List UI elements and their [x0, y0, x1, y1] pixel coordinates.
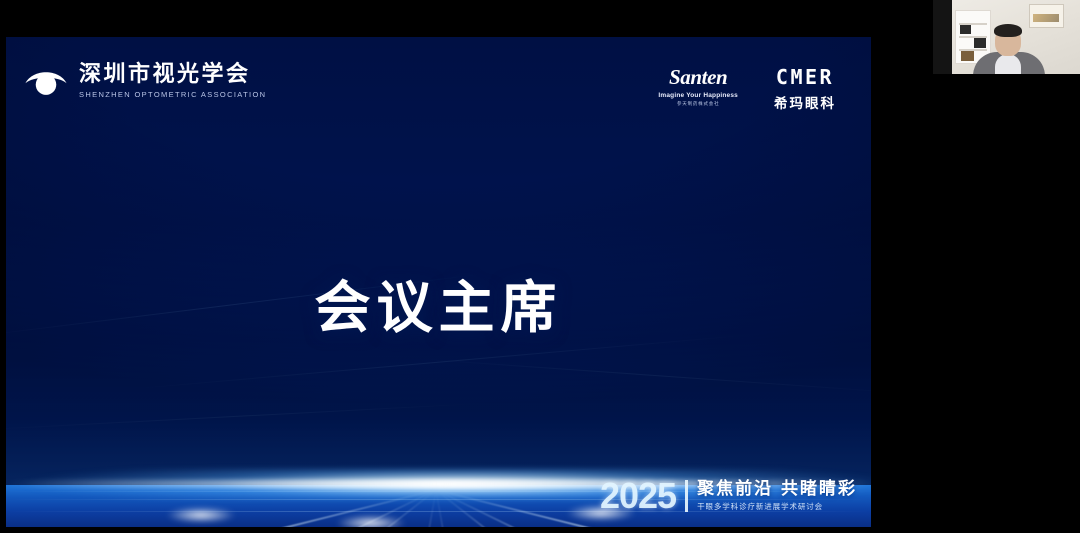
ground-glow	[166, 507, 236, 523]
sponsor-santen: Santen Imagine Your Happiness 参天制药株式会社	[658, 65, 738, 107]
eye-icon	[24, 63, 68, 99]
sponsor-cmer: CMER 希玛眼科	[774, 65, 836, 112]
video-person-hair	[994, 24, 1022, 37]
sponsor-logos: Santen Imagine Your Happiness 参天制药株式会社 C…	[658, 65, 836, 112]
light-streak	[6, 403, 485, 430]
video-wall-picture	[1029, 4, 1064, 28]
association-name-en: SHENZHEN OPTOMETRIC ASSOCIATION	[79, 91, 266, 99]
santen-wordmark: Santen	[658, 65, 738, 90]
santen-tagline: Imagine Your Happiness	[658, 92, 738, 99]
conference-slogan: 聚焦前沿 共睹睛彩	[697, 480, 857, 500]
conference-year: 2025	[600, 475, 676, 517]
lockup-divider	[685, 480, 688, 512]
conference-lockup: 2025 聚焦前沿 共睹睛彩 干眼多学科诊疗新进展学术研讨会	[600, 475, 857, 517]
presentation-slide[interactable]: 深圳市视光学会 SHENZHEN OPTOMETRIC ASSOCIATION …	[6, 37, 871, 527]
conference-subtitle: 干眼多学科诊疗新进展学术研讨会	[697, 503, 857, 512]
ground-glow	[336, 515, 406, 527]
slide-header: 深圳市视光学会 SHENZHEN OPTOMETRIC ASSOCIATION …	[6, 37, 871, 137]
cmer-name-cn: 希玛眼科	[774, 92, 836, 112]
santen-name-cn: 参天制药株式会社	[658, 101, 738, 107]
speaker-video-thumbnail[interactable]	[933, 0, 1080, 74]
video-wall-left	[933, 0, 952, 74]
slide-title: 会议主席	[6, 263, 871, 344]
light-streak	[426, 359, 871, 393]
letterbox-bar	[0, 527, 1080, 533]
association-name-cn: 深圳市视光学会	[79, 64, 266, 86]
cmer-wordmark: CMER	[774, 65, 836, 89]
meeting-stage: 深圳市视光学会 SHENZHEN OPTOMETRIC ASSOCIATION …	[0, 0, 1080, 533]
association-logo: 深圳市视光学会 SHENZHEN OPTOMETRIC ASSOCIATION	[24, 63, 266, 99]
